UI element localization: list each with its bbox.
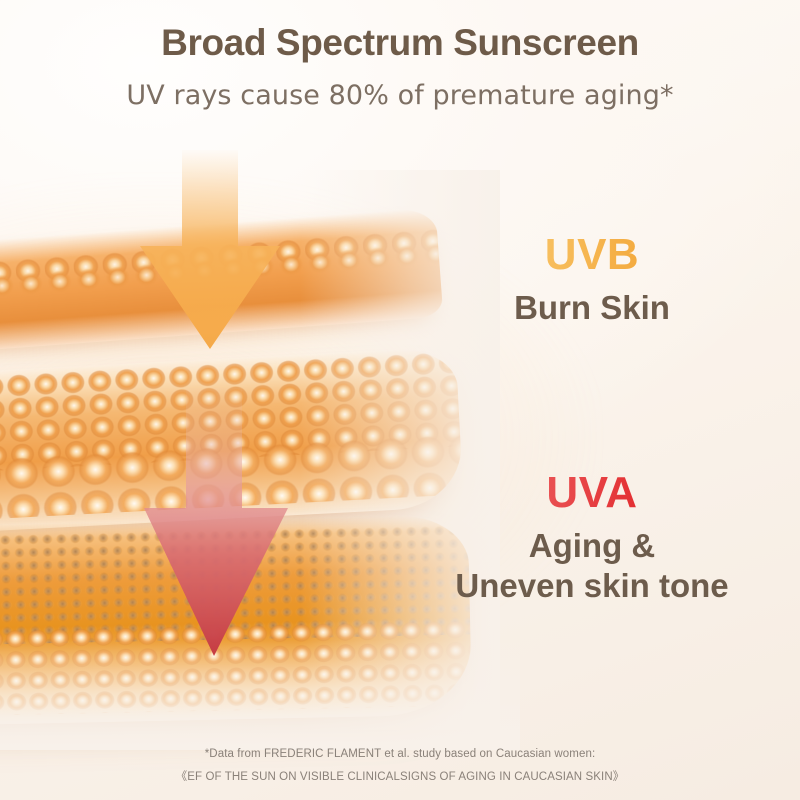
uva-description-line1: Aging &	[529, 527, 655, 564]
footnote-line-2: 《EF OF THE SUN ON VISIBLE CLINICALSIGNS …	[0, 768, 800, 784]
uva-down-arrow-icon	[126, 388, 306, 668]
uva-description-line2: Uneven skin tone	[432, 566, 752, 606]
page-subtitle: UV rays cause 80% of premature aging*	[0, 80, 800, 111]
uva-label: UVA	[432, 470, 752, 516]
uvb-down-arrow-icon	[120, 150, 300, 360]
uvb-description-line1: Burn Skin	[514, 289, 670, 326]
footnote: *Data from FREDERIC FLAMENT et al. study…	[0, 748, 800, 784]
sunscreen-infographic: Broad Spectrum Sunscreen UV rays cause 8…	[0, 0, 800, 800]
footnote-line-1: *Data from FREDERIC FLAMENT et al. study…	[0, 748, 800, 760]
uvb-description: Burn Skin	[432, 288, 752, 328]
uva-description: Aging & Uneven skin tone	[432, 526, 752, 607]
callout-uvb: UVB Burn Skin	[432, 232, 752, 328]
page-title: Broad Spectrum Sunscreen	[0, 22, 800, 64]
uvb-label: UVB	[432, 232, 752, 278]
callout-uva: UVA Aging & Uneven skin tone	[432, 470, 752, 607]
